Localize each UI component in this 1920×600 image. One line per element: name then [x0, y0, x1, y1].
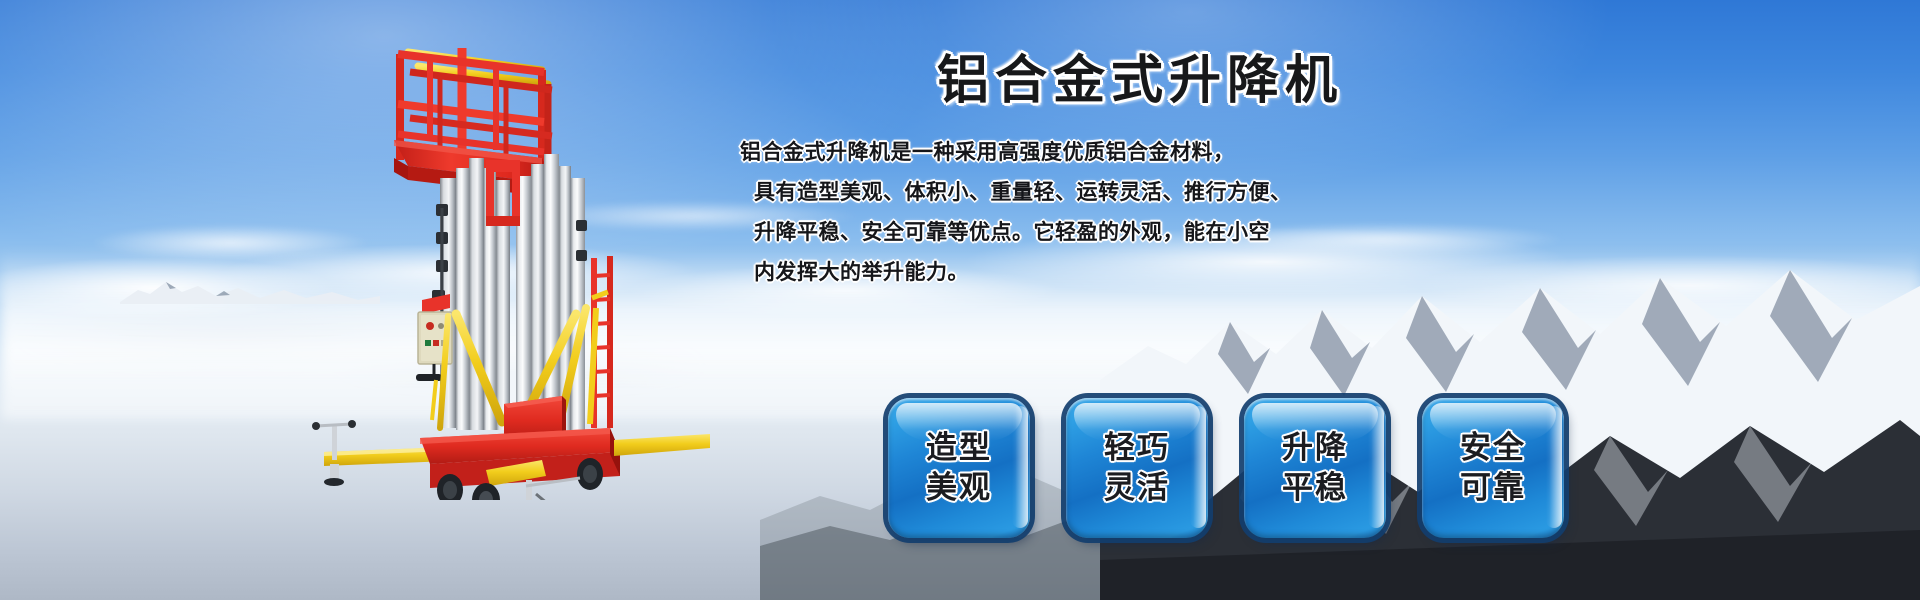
- banner-description: 铝合金式升降机是一种采用高强度优质铝合金材料， 具有造型美观、体积小、重量轻、运…: [740, 132, 1280, 292]
- feature-badge-appearance-label: 造型 美观: [926, 428, 992, 508]
- description-line-2: 具有造型美观、体积小、重量轻、运转灵活、推行方便、: [740, 172, 1280, 212]
- promo-banner: 铝合金式升降机 铝合金式升降机是一种采用高强度优质铝合金材料， 具有造型美观、体…: [0, 0, 1920, 600]
- side-ladder: [590, 256, 610, 428]
- feature-appearance-line1: 造型: [926, 428, 992, 468]
- banner-headline: 铝合金式升降机: [820, 52, 1460, 110]
- feature-appearance-line2: 美观: [926, 468, 992, 508]
- feature-badge-smooth-lifting-label: 升降 平稳: [1282, 428, 1348, 508]
- feature-lightweight-line2: 灵活: [1104, 468, 1170, 508]
- aluminium-alloy-lift-product-image: [290, 8, 710, 500]
- description-line-3: 升降平稳、安全可靠等优点。它轻盈的外观，能在小空: [740, 212, 1280, 252]
- feature-badge-lightweight[interactable]: 轻巧 灵活: [1066, 398, 1208, 538]
- description-line-1: 铝合金式升降机是一种采用高强度优质铝合金材料，: [740, 132, 1280, 172]
- feature-badge-lightweight-label: 轻巧 灵活: [1104, 428, 1170, 508]
- feature-badge-appearance[interactable]: 造型 美观: [888, 398, 1030, 538]
- feature-safety-line1: 安全: [1460, 428, 1526, 468]
- feature-badge-safety[interactable]: 安全 可靠: [1422, 398, 1564, 538]
- feature-badge-smooth-lifting[interactable]: 升降 平稳: [1244, 398, 1386, 538]
- feature-safety-line2: 可靠: [1460, 468, 1526, 508]
- description-line-4: 内发挥大的举升能力。: [740, 252, 1280, 292]
- feature-lightweight-line1: 轻巧: [1104, 428, 1170, 468]
- feature-smooth-line2: 平稳: [1282, 468, 1348, 508]
- feature-badge-list: 造型 美观 轻巧 灵活 升降 平稳 安全 可靠: [888, 398, 1564, 538]
- feature-badge-safety-label: 安全 可靠: [1460, 428, 1526, 508]
- feature-smooth-line1: 升降: [1282, 428, 1348, 468]
